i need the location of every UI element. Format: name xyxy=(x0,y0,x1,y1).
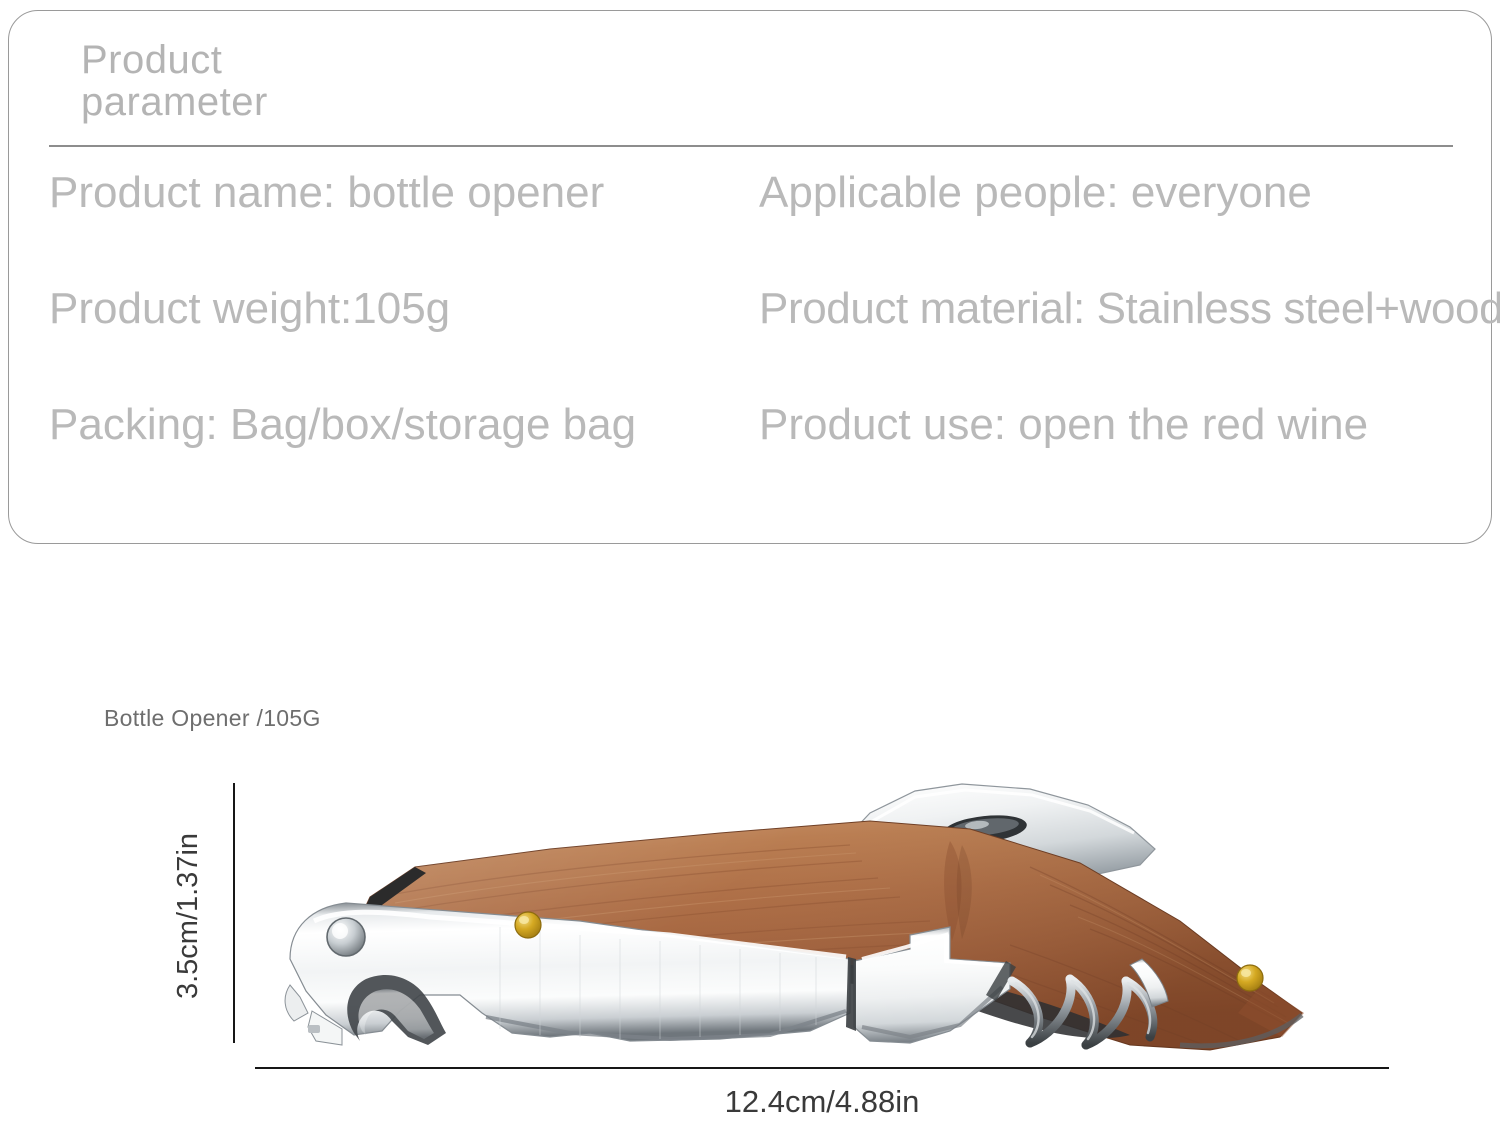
param-applicable-people: Applicable people: everyone xyxy=(759,171,1459,215)
parameter-grid: Product name: bottle opener Applicable p… xyxy=(49,171,1459,519)
bottle-opener-product-image xyxy=(250,745,1400,1065)
brass-rivet-left xyxy=(515,912,541,938)
width-dimension-line xyxy=(255,1067,1389,1069)
product-dimension-section: Bottle Opener /105G 3.5cm/1.37in 12.4cm/… xyxy=(0,620,1500,1124)
bottle-opener-illustration xyxy=(250,745,1400,1065)
width-dimension-label: 12.4cm/4.88in xyxy=(255,1084,1389,1120)
param-product-name: Product name: bottle opener xyxy=(49,171,759,215)
product-caption: Bottle Opener /105G xyxy=(104,705,321,732)
height-dimension-line xyxy=(233,783,235,1043)
height-dimension-label: 3.5cm/1.37in xyxy=(172,805,205,1027)
param-product-use: Product use: open the red wine xyxy=(759,403,1459,447)
param-product-weight: Product weight:105g xyxy=(49,287,759,331)
brass-rivet-right xyxy=(1237,965,1263,991)
product-parameter-panel: Product parameter Product name: bottle o… xyxy=(8,10,1492,544)
param-packing: Packing: Bag/box/storage bag xyxy=(49,403,759,447)
pivot-rivet xyxy=(327,918,365,956)
param-product-material: Product material: Stainless steel+wood xyxy=(759,287,1459,331)
panel-title: Product parameter xyxy=(81,39,268,123)
panel-divider xyxy=(49,145,1453,147)
